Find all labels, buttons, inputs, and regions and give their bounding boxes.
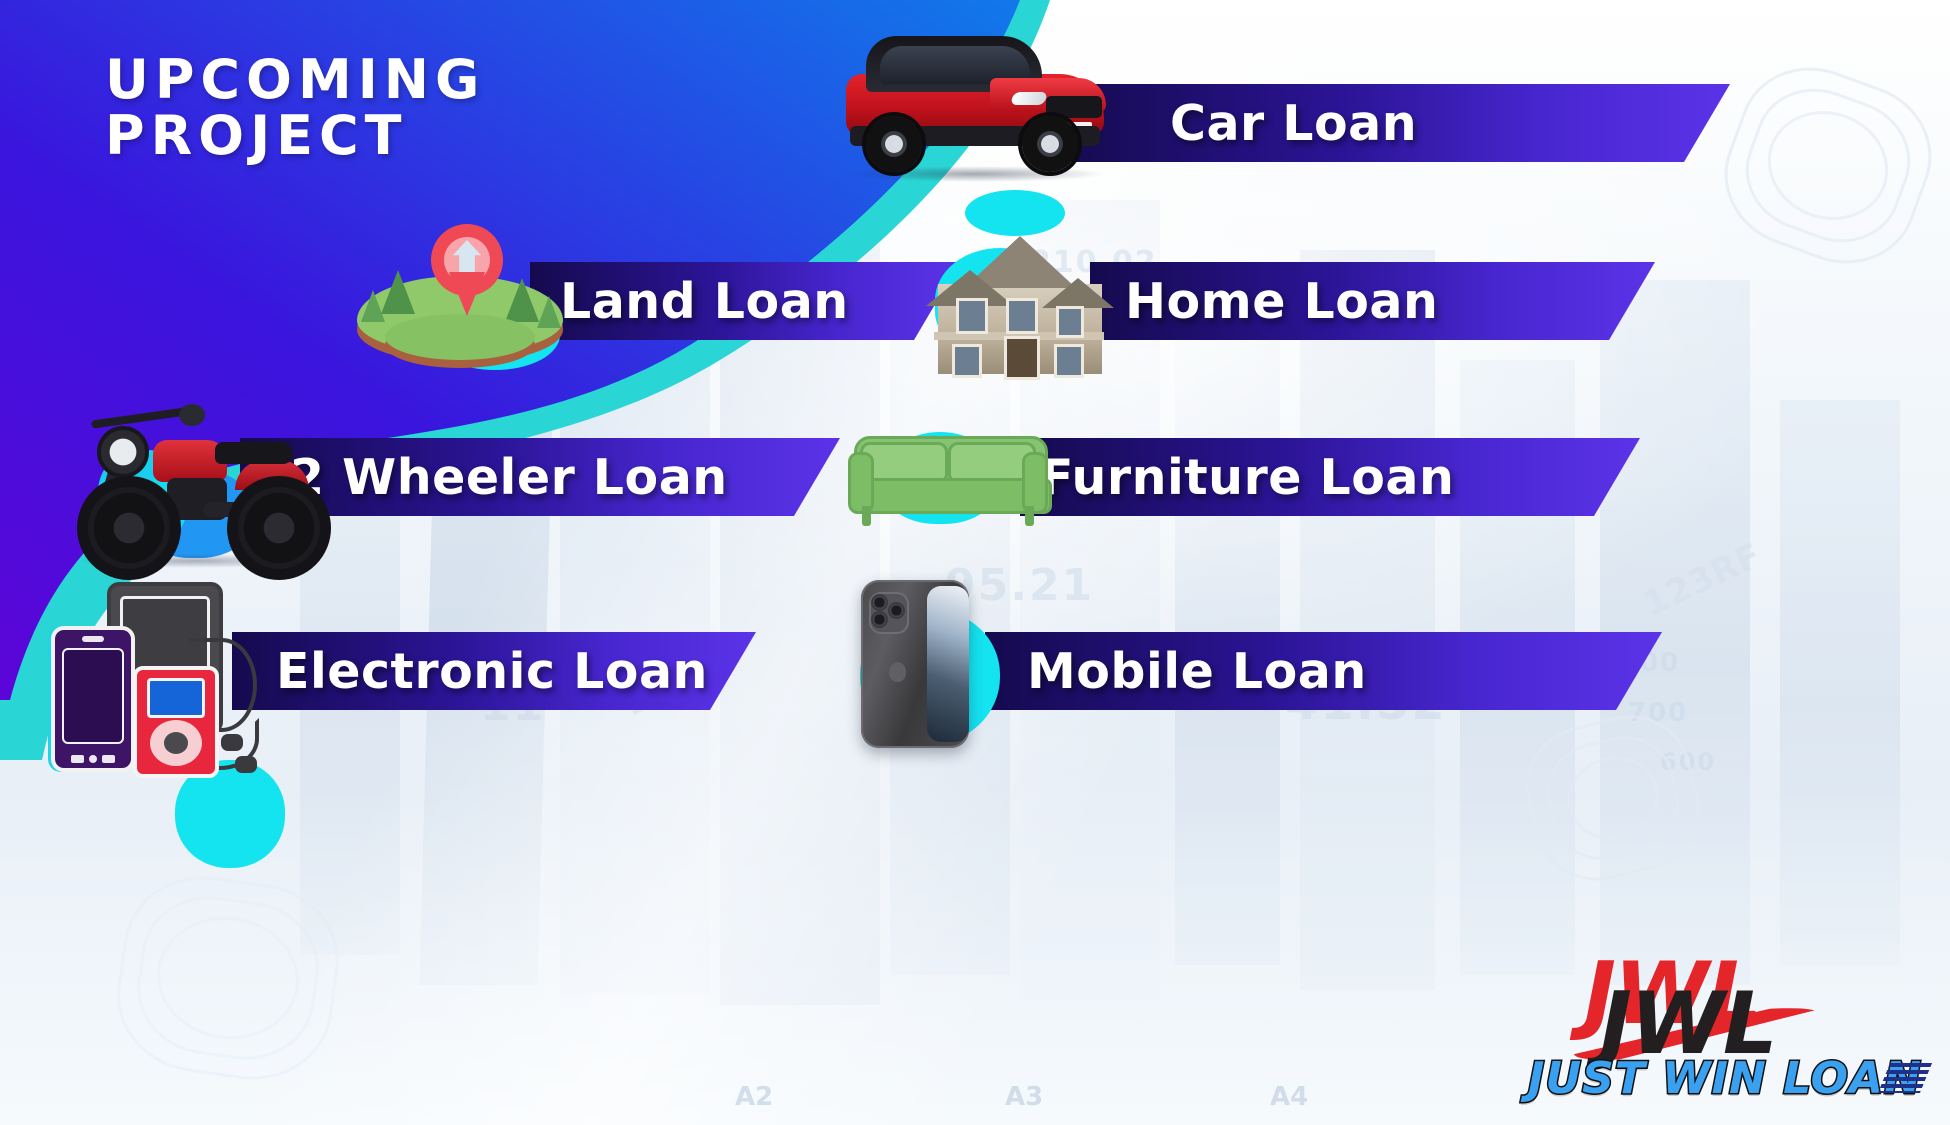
smartphone-icon xyxy=(855,580,975,750)
title-line-2: PROJECT xyxy=(105,108,485,164)
motorcycle-icon xyxy=(75,378,325,563)
car-icon: HARRIER xyxy=(840,30,1110,180)
background-axis-label-1: A3 xyxy=(1005,1082,1043,1112)
logo-tagline: JUST WIN LOAN xyxy=(1528,1053,1922,1104)
banner-land-loan[interactable]: Land Loan xyxy=(530,262,960,340)
land-pin-icon xyxy=(345,222,575,372)
loan-label-home: Home Loan xyxy=(1125,273,1438,330)
brand-logo[interactable]: JWL JWL JUST WIN LOAN xyxy=(1528,951,1928,1111)
sofa-icon xyxy=(848,430,1048,530)
banner-electronic-loan[interactable]: Electronic Loan xyxy=(232,632,756,710)
banner-mobile-loan[interactable]: Mobile Loan xyxy=(985,632,1662,710)
electronics-icon xyxy=(45,578,280,773)
loan-label-land: Land Loan xyxy=(560,273,849,330)
loan-label-twowheeler: 2 Wheeler Loan xyxy=(290,449,728,506)
loan-label-mobile: Mobile Loan xyxy=(1027,643,1367,700)
background-axis-label-0: A2 xyxy=(735,1082,773,1112)
loan-label-furniture: Furniture Loan xyxy=(1040,449,1454,506)
banner-car-loan[interactable]: Car Loan xyxy=(1060,84,1730,162)
loan-label-electronic: Electronic Loan xyxy=(276,643,708,700)
page-title: UPCOMING PROJECT xyxy=(105,52,485,164)
background-axis-label-2: A4 xyxy=(1270,1082,1308,1112)
house-icon xyxy=(920,228,1120,378)
banner-furniture-loan[interactable]: Furniture Loan xyxy=(1020,438,1640,516)
title-line-1: UPCOMING xyxy=(105,52,485,108)
banner-home-loan[interactable]: Home Loan xyxy=(1090,262,1655,340)
banner-twowheeler-loan[interactable]: 2 Wheeler Loan xyxy=(240,438,840,516)
loan-label-car: Car Loan xyxy=(1170,95,1417,152)
promo-poster: 210.02 95.21 41.52 11 800 700 600 A2 A3 … xyxy=(0,0,1950,1125)
